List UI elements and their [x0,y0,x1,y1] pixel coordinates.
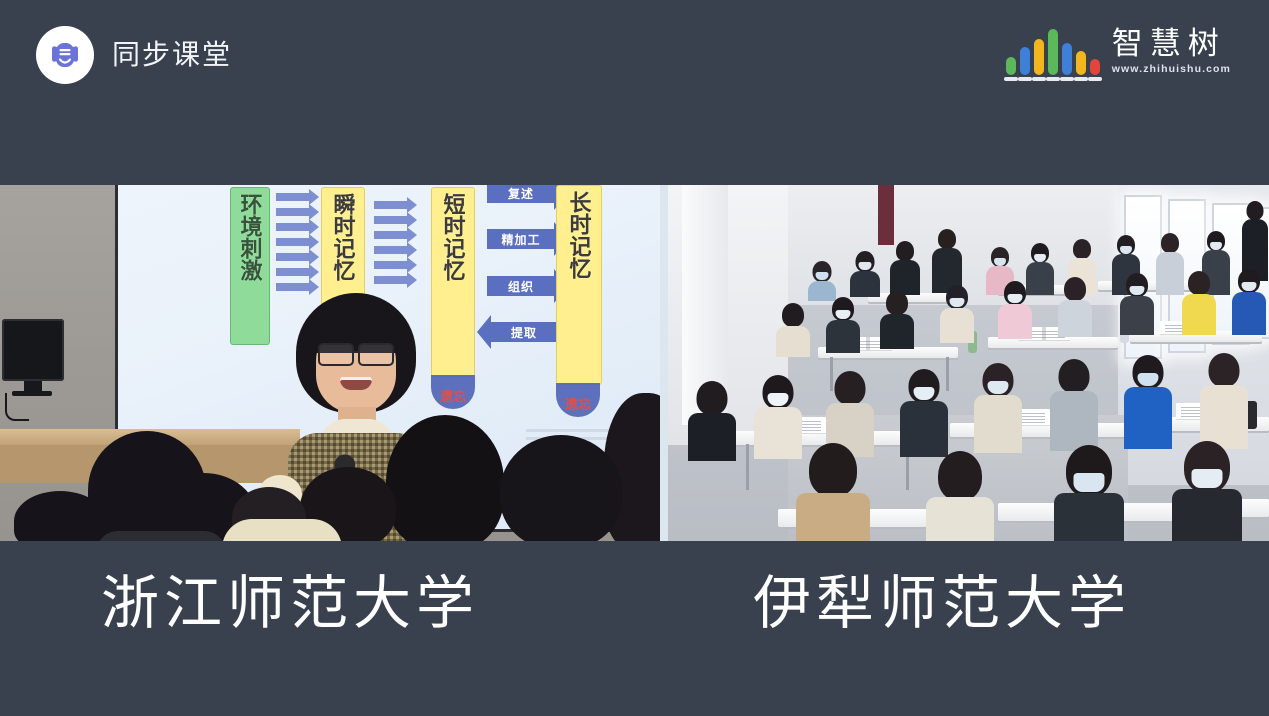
student [880,291,914,349]
student-body [796,493,870,541]
logo-bar [1062,43,1072,75]
student [776,303,810,357]
arrow-icon [374,201,408,209]
student [1054,445,1124,541]
app-header: 同步课堂 智慧树 www.zhihuishu.com [0,0,1269,185]
curtain [878,185,894,245]
student [932,229,962,293]
student-body [850,271,880,297]
app-title: 同步课堂 [112,41,232,69]
student-body [688,413,736,461]
arrow-label-rehearsal: 复述 [487,185,555,203]
video-band: 环境刺激 瞬时记忆 遗忘 [0,185,1269,541]
student [926,451,994,541]
arrow-icon [276,238,310,246]
caption-left-university: 浙江师范大学 [101,575,479,633]
student [1156,233,1184,295]
zhihuishu-bars-icon [1006,29,1100,75]
student [974,363,1022,453]
arrow-icon [276,193,310,201]
arrow-label-elaboration: 精加工 [487,229,555,249]
arrow-label-organization: 组织 [487,276,555,296]
arrow-icon [276,223,310,231]
student [796,443,870,541]
slide-box-short-term-memory: 短时记忆 [431,187,475,377]
student-head [938,451,982,501]
student-head [896,241,914,261]
arrow-icon [374,216,408,224]
student [940,285,974,343]
arrow-icon [276,283,310,291]
student-body [1200,385,1248,449]
logo-bar [1006,57,1016,75]
student [1172,441,1242,541]
student [1058,277,1092,337]
student [1050,359,1098,451]
student [1200,353,1248,449]
arrow-icon [374,276,408,284]
student-shoulders [222,519,342,541]
forget-badge: 遗忘 [556,383,600,417]
arrow-label-retrieval: 提取 [490,322,558,342]
student [1232,269,1266,335]
student-body [1058,300,1092,337]
student [1124,355,1172,449]
student-body [1050,391,1098,451]
student [808,261,836,301]
video-pane-left[interactable]: 环境刺激 瞬时记忆 遗忘 [0,185,660,541]
arrow-icon [374,246,408,254]
face-mask-icon [1192,469,1223,488]
student-head [386,415,504,541]
arrow-group-2 [374,201,408,284]
student [1182,271,1216,335]
student [998,281,1032,339]
student-head [1059,359,1090,393]
zhihuishu-logo: 智慧树 www.zhihuishu.com [1006,28,1231,75]
caption-right-university: 伊犁师范大学 [753,575,1131,633]
slide-box-long-term-memory: 长时记忆 [556,185,602,385]
logo-bar [1020,47,1030,75]
brand-url: www.zhihuishu.com [1112,63,1231,75]
student-head [938,229,956,249]
student-body [1054,493,1124,541]
arrow-group-1 [276,193,310,291]
logo-bar [1034,39,1044,75]
caption-band: 浙江师范大学 伊犁师范大学 [0,541,1269,716]
video-pane-right[interactable] [668,185,1269,541]
teacher-mouth [340,377,372,390]
student [900,369,948,457]
student [826,297,860,353]
student-head [1188,271,1210,295]
student-body [754,407,802,459]
student-body [826,320,860,353]
arrow-icon [374,231,408,239]
student-body [998,304,1032,339]
student-head [782,303,804,327]
student-head [1247,201,1264,220]
arrow-icon [276,253,310,261]
student-shoulders [96,531,226,541]
student-head [1073,239,1091,259]
student [1120,273,1154,335]
student [754,375,802,459]
student-body [776,326,810,357]
video-divider [660,185,668,541]
student-body [1172,489,1242,541]
student-head [1064,277,1086,301]
owl-badge-icon [36,26,94,84]
logo-bar [1048,29,1058,75]
arrow-icon [276,208,310,216]
student-body [1156,252,1184,295]
student-body [1232,292,1266,335]
brand-block: 同步课堂 [36,26,232,84]
zhihuishu-wordmark: 智慧树 www.zhihuishu.com [1112,28,1231,75]
forget-badge: 遗忘 [431,375,475,409]
face-mask-icon [1074,473,1105,492]
monitor-cable [5,393,29,421]
student-body [890,260,920,295]
student-head [1209,353,1240,387]
slide-box-environment: 环境刺激 [230,187,270,345]
desk-leg [746,444,749,490]
student-head [1161,233,1179,253]
logo-bar [1090,59,1100,75]
student-body [900,401,948,457]
arrow-icon [374,261,408,269]
student-body [1120,296,1154,335]
student-body [1124,387,1172,449]
student-head [500,435,622,541]
student [890,241,920,295]
student [850,251,880,297]
student [688,381,736,461]
monitor-icon [2,319,64,381]
brand-name: 智慧树 [1112,28,1226,61]
student-head [886,291,908,315]
student-body [880,314,914,349]
student-body [940,308,974,343]
arrow-icon [276,268,310,276]
student-body [926,497,994,541]
student-head [809,443,857,497]
student-body [974,395,1022,453]
logo-bar [1076,51,1086,75]
app-root: 同步课堂 智慧树 www.zhihuishu.com [0,0,1269,716]
student-body [1182,294,1216,335]
student-head [697,381,728,415]
student-head [835,371,866,405]
glasses-icon [316,343,396,362]
